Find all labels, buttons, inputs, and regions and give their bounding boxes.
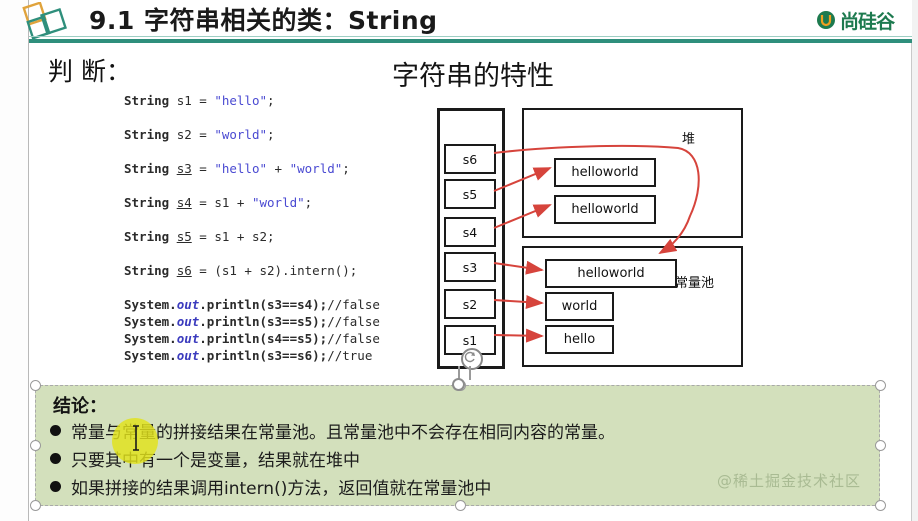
code-token: "world": [252, 195, 305, 210]
code-token: .println(s4==s5);: [199, 331, 327, 346]
conclusion-textbox[interactable]: 结论： 常量与常量的拼接结果在常量池。且常量池中不会存在相同内容的常量。 只要其…: [35, 385, 880, 506]
code-token: s2: [177, 127, 192, 142]
window-right-margin: [911, 0, 918, 521]
code-token: out: [177, 297, 200, 312]
bullet-dot-icon: [50, 425, 61, 436]
section-title: 字符串的特性: [392, 54, 554, 93]
picture-rotate-stem: [469, 366, 471, 380]
code-token: =: [192, 161, 215, 176]
code-token: s1 + s2;: [214, 229, 274, 244]
code-token: =: [192, 263, 215, 278]
brand-logo-text: 尚硅谷: [840, 7, 894, 34]
conclusion-rotate-handle[interactable]: [452, 378, 465, 391]
code-token: =: [192, 195, 215, 210]
code-token: s1: [177, 93, 192, 108]
code-token: s4: [177, 195, 192, 210]
code-line: System.out.println(s3==s4);//false: [124, 296, 424, 313]
code-token: System.: [124, 348, 177, 363]
selection-handle-tr[interactable]: [875, 380, 886, 391]
code-token: String: [124, 263, 177, 278]
code-token: //true: [327, 348, 372, 363]
code-token: ;: [267, 93, 275, 108]
code-token: String: [124, 195, 177, 210]
code-token: ;: [267, 127, 275, 142]
code-token: System.: [124, 331, 177, 346]
code-token: String: [124, 127, 177, 142]
code-token: +: [267, 161, 290, 176]
brand-logo: 尚硅谷: [816, 6, 894, 34]
bullet-dot-icon: [50, 481, 61, 492]
code-token: "world": [290, 161, 343, 176]
conclusion-bullet-3-text: 如果拼接的结果调用intern()方法，返回值就在常量池中: [71, 474, 491, 499]
code-token: //false: [327, 331, 380, 346]
conclusion-bullet-2: 只要其中有一个是变量，结果就在堆中: [50, 445, 360, 472]
selection-handle-bc[interactable]: [455, 500, 466, 511]
code-token: out: [177, 348, 200, 363]
code-token: .println(s3==s5);: [199, 314, 327, 329]
code-token: "world": [214, 127, 267, 142]
code-token: //false: [327, 297, 380, 312]
code-line: String s6 = (s1 + s2).intern();: [124, 262, 424, 279]
code-token: //false: [327, 314, 380, 329]
code-token: System.: [124, 314, 177, 329]
selection-handle-tl[interactable]: [30, 380, 41, 391]
code-line: String s3 = "hello" + "world";: [124, 160, 424, 177]
code-token: String: [124, 93, 177, 108]
code-line: String s2 = "world";: [124, 126, 424, 143]
conclusion-title: 结论：: [53, 392, 107, 418]
code-token: =: [192, 229, 215, 244]
bullet-dot-icon: [50, 453, 61, 464]
code-token: System.: [124, 297, 177, 312]
watermark: @稀土掘金技术社区: [717, 470, 861, 491]
code-block: String s1 = "hello";String s2 = "world";…: [124, 92, 424, 364]
page-title: 9.1 字符串相关的类：String: [89, 4, 438, 38]
selection-handle-bl[interactable]: [30, 500, 41, 511]
code-line: String s5 = s1 + s2;: [124, 228, 424, 245]
code-token: out: [177, 331, 200, 346]
code-token: =: [192, 93, 215, 108]
code-token: s3: [177, 161, 192, 176]
code-token: =: [192, 127, 215, 142]
window-left-margin: [0, 0, 29, 521]
code-line: System.out.println(s4==s5);//false: [124, 330, 424, 347]
slide-canvas: 9.1 字符串相关的类：String 尚硅谷 判 断： 字符串的特性 Strin…: [0, 0, 918, 521]
conclusion-bullet-3: 如果拼接的结果调用intern()方法，返回值就在常量池中: [50, 473, 491, 500]
code-line: System.out.println(s3==s5);//false: [124, 313, 424, 330]
selection-handle-ml[interactable]: [30, 440, 41, 451]
selection-handle-mr[interactable]: [875, 440, 886, 451]
code-token: String: [124, 229, 177, 244]
reference-arrows: [432, 106, 758, 371]
code-token: out: [177, 314, 200, 329]
code-token: s1 +: [214, 195, 252, 210]
code-token: ;: [342, 161, 350, 176]
selection-handle-br[interactable]: [875, 500, 886, 511]
code-token: ;: [305, 195, 313, 210]
picture-rotate-handle[interactable]: [461, 348, 483, 370]
code-token: .println(s3==s4);: [199, 297, 327, 312]
memory-diagram: s6s5s4s3s2s1 堆 helloworld helloworld 常量池…: [432, 106, 758, 371]
slide-header: 9.1 字符串相关的类：String 尚硅谷: [29, 0, 912, 43]
code-line: System.out.println(s3==s6);//true: [124, 347, 424, 364]
u-mark-icon: [816, 10, 836, 30]
code-line: String s1 = "hello";: [124, 92, 424, 109]
code-token: String: [124, 161, 177, 176]
code-token: "hello": [214, 161, 267, 176]
header-rule: [29, 39, 912, 43]
judge-label: 判 断：: [48, 52, 131, 88]
code-token: s6: [177, 263, 192, 278]
code-line: String s4 = s1 + "world";: [124, 194, 424, 211]
code-token: (s1 + s2).intern();: [214, 263, 357, 278]
code-token: s5: [177, 229, 192, 244]
text-cursor-icon: [131, 425, 141, 451]
code-token: "hello": [214, 93, 267, 108]
code-token: .println(s3==s6);: [199, 348, 327, 363]
